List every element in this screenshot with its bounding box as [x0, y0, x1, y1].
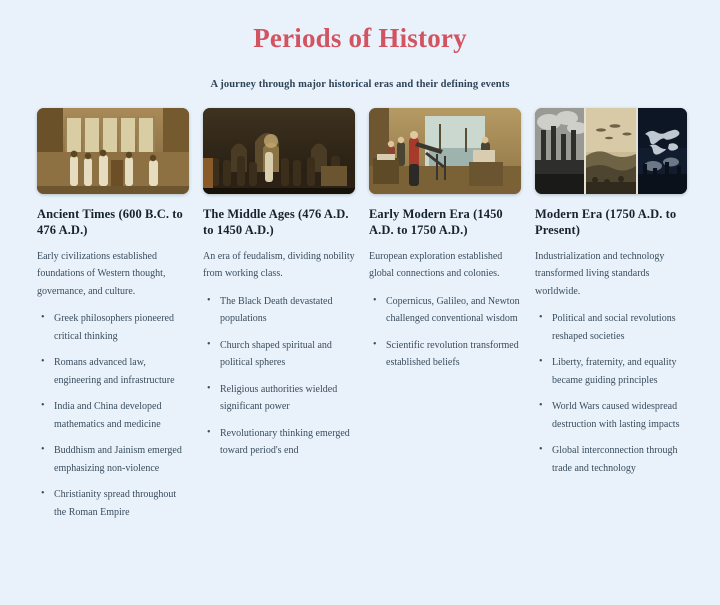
period-card-grid: Ancient Times (600 B.C. to 476 A.D.) Ear…: [0, 90, 720, 531]
card-bullet-list: Greek philosophers pioneered critical th…: [37, 310, 189, 521]
middle-ages-illustration: [203, 108, 355, 194]
history-periods-page: Periods of History A journey through maj…: [0, 0, 720, 605]
modern-era-illustration: [535, 108, 687, 194]
page-title: Periods of History: [0, 24, 720, 54]
list-item: Church shaped spiritual and political sp…: [218, 337, 355, 372]
card-title: Ancient Times (600 B.C. to 476 A.D.): [37, 206, 189, 239]
page-header: Periods of History A journey through maj…: [0, 0, 720, 90]
period-card-early-modern-era: Early Modern Era (1450 A.D. to 1750 A.D.…: [369, 108, 521, 381]
list-item: Revolutionary thinking emerged toward pe…: [218, 425, 355, 460]
card-title: Early Modern Era (1450 A.D. to 1750 A.D.…: [369, 206, 521, 239]
card-description: European exploration established global …: [369, 248, 521, 283]
page-subtitle: A journey through major historical eras …: [0, 54, 720, 90]
list-item: Liberty, fraternity, and equality became…: [550, 354, 687, 389]
card-bullet-list: Copernicus, Galileo, and Newton challeng…: [369, 293, 521, 372]
list-item: Scientific revolution transformed establ…: [384, 337, 521, 372]
list-item: Religious authorities wielded significan…: [218, 381, 355, 416]
card-description: An era of feudalism, dividing nobility f…: [203, 248, 355, 283]
list-item: Buddhism and Jainism emerged emphasizing…: [52, 442, 189, 477]
period-card-ancient-times: Ancient Times (600 B.C. to 476 A.D.) Ear…: [37, 108, 189, 531]
list-item: World Wars caused widespread destruction…: [550, 398, 687, 433]
card-title: Modern Era (1750 A.D. to Present): [535, 206, 687, 239]
list-item: Political and social revolutions reshape…: [550, 310, 687, 345]
early-modern-era-illustration: [369, 108, 521, 194]
ancient-times-illustration: [37, 108, 189, 194]
card-description: Industrialization and technology transfo…: [535, 248, 687, 301]
list-item: Global interconnection through trade and…: [550, 442, 687, 477]
list-item: Greek philosophers pioneered critical th…: [52, 310, 189, 345]
card-description: Early civilizations established foundati…: [37, 248, 189, 301]
card-bullet-list: Political and social revolutions reshape…: [535, 310, 687, 477]
list-item: Copernicus, Galileo, and Newton challeng…: [384, 293, 521, 328]
period-card-middle-ages: The Middle Ages (476 A.D. to 1450 A.D.) …: [203, 108, 355, 469]
list-item: Romans advanced law, engineering and inf…: [52, 354, 189, 389]
card-title: The Middle Ages (476 A.D. to 1450 A.D.): [203, 206, 355, 239]
list-item: The Black Death devastated populations: [218, 293, 355, 328]
period-card-modern-era: Modern Era (1750 A.D. to Present) Indust…: [535, 108, 687, 487]
list-item: Christianity spread throughout the Roman…: [52, 486, 189, 521]
list-item: India and China developed mathematics an…: [52, 398, 189, 433]
card-bullet-list: The Black Death devastated populations C…: [203, 293, 355, 460]
